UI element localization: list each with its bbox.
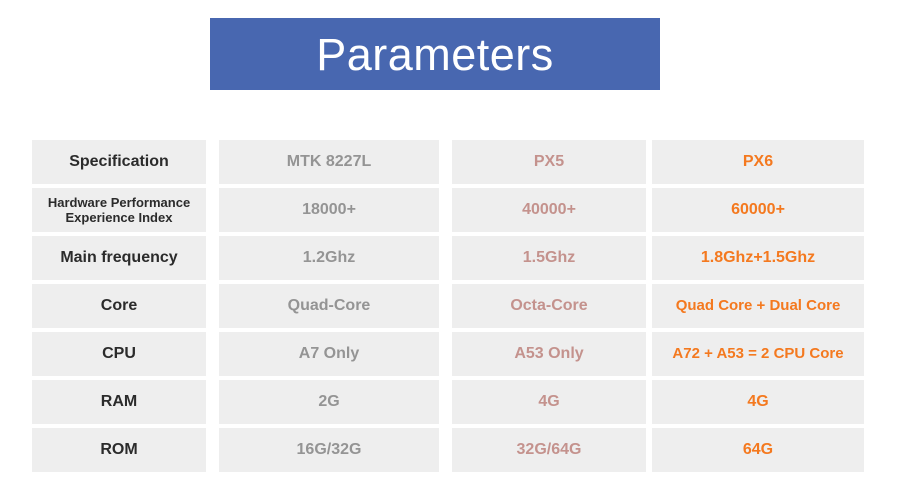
row-label-cell: Core (32, 284, 206, 328)
page-title: Parameters (316, 32, 554, 77)
cell-value: 16G/32G (297, 441, 362, 460)
table-row: ROM 16G/32G 32G/64G 64G (32, 428, 864, 472)
cell-value: 2G (318, 393, 339, 412)
mtk-value-cell: 2G (219, 380, 439, 424)
cell-value: 1.8Ghz+1.5Ghz (701, 249, 815, 268)
table-row: Main frequency 1.2Ghz 1.5Ghz 1.8Ghz+1.5G… (32, 236, 864, 280)
row-label-cell: ROM (32, 428, 206, 472)
cell-value: A53 Only (514, 345, 583, 364)
cell-value: 64G (743, 441, 773, 460)
px5-value-cell: A53 Only (452, 332, 646, 376)
row-label: Specification (69, 153, 169, 172)
row-label: RAM (101, 393, 137, 412)
cell-value: Octa-Core (510, 297, 587, 316)
px6-value-cell: 1.8Ghz+1.5Ghz (652, 236, 864, 280)
px5-value-cell: 4G (452, 380, 646, 424)
cell-value: 60000+ (731, 201, 785, 220)
px6-value-cell: A72 + A53 = 2 CPU Core (652, 332, 864, 376)
cell-value: PX5 (534, 153, 564, 172)
cell-value: 4G (747, 393, 768, 412)
cell-value: 32G/64G (517, 441, 582, 460)
px6-value-cell: PX6 (652, 140, 864, 184)
table-row: RAM 2G 4G 4G (32, 380, 864, 424)
table-row: Specification MTK 8227L PX5 PX6 (32, 140, 864, 184)
mtk-value-cell: 16G/32G (219, 428, 439, 472)
cell-value: Quad-Core (288, 297, 371, 316)
mtk-value-cell: 18000+ (219, 188, 439, 232)
row-label: Hardware Performance Experience Index (48, 195, 190, 226)
table-row: Hardware Performance Experience Index 18… (32, 188, 864, 232)
px5-value-cell: PX5 (452, 140, 646, 184)
cell-value: PX6 (743, 153, 773, 172)
row-label: CPU (102, 345, 136, 364)
px6-value-cell: 4G (652, 380, 864, 424)
cell-value: 4G (538, 393, 559, 412)
row-label: Main frequency (60, 249, 177, 268)
specification-comparison-table: Specification MTK 8227L PX5 PX6 Hardware… (32, 140, 864, 472)
px6-value-cell: 60000+ (652, 188, 864, 232)
title-banner: Parameters (210, 18, 660, 90)
row-label-cell: CPU (32, 332, 206, 376)
row-label-cell: Specification (32, 140, 206, 184)
cell-value: 40000+ (522, 201, 576, 220)
cell-value: A72 + A53 = 2 CPU Core (672, 345, 843, 363)
cell-value: 1.2Ghz (303, 249, 355, 268)
row-label-cell: Main frequency (32, 236, 206, 280)
slide-canvas: Parameters Specification MTK 8227L PX5 P… (0, 0, 900, 492)
px6-value-cell: 64G (652, 428, 864, 472)
cell-value: 18000+ (302, 201, 356, 220)
table-row: CPU A7 Only A53 Only A72 + A53 = 2 CPU C… (32, 332, 864, 376)
table-row: Core Quad-Core Octa-Core Quad Core + Dua… (32, 284, 864, 328)
px5-value-cell: 40000+ (452, 188, 646, 232)
px5-value-cell: Octa-Core (452, 284, 646, 328)
row-label-cell: RAM (32, 380, 206, 424)
mtk-value-cell: Quad-Core (219, 284, 439, 328)
row-label: Core (101, 297, 137, 316)
px5-value-cell: 32G/64G (452, 428, 646, 472)
cell-value: A7 Only (299, 345, 359, 364)
row-label-cell: Hardware Performance Experience Index (32, 188, 206, 232)
row-label: ROM (100, 441, 137, 460)
mtk-value-cell: A7 Only (219, 332, 439, 376)
cell-value: 1.5Ghz (523, 249, 575, 268)
cell-value: MTK 8227L (287, 153, 371, 172)
px6-value-cell: Quad Core + Dual Core (652, 284, 864, 328)
px5-value-cell: 1.5Ghz (452, 236, 646, 280)
mtk-value-cell: MTK 8227L (219, 140, 439, 184)
mtk-value-cell: 1.2Ghz (219, 236, 439, 280)
cell-value: Quad Core + Dual Core (676, 297, 841, 315)
